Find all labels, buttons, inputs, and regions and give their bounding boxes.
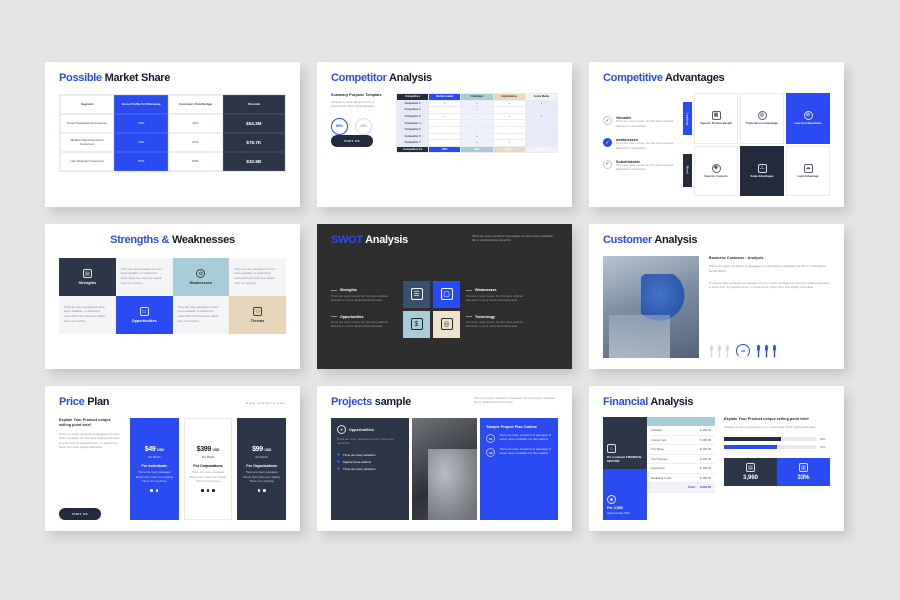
- person-icon: [772, 345, 777, 358]
- person-icon: [717, 345, 722, 358]
- price-audience: For Corporations: [193, 464, 222, 468]
- slide-possible-market-share[interactable]: Possible Market Share Segment Gross Prof…: [45, 62, 300, 207]
- card-value: Per 2,950: [607, 506, 643, 510]
- bullet-item: words which don't look even slightly: [234, 277, 275, 282]
- price-period: Per Month: [255, 456, 267, 459]
- advantage-axis-tabs: Leading Rival: [683, 93, 692, 196]
- monitor-icon: ▭: [140, 307, 149, 316]
- financial-table: Activities $ 100.00 Current ratio $ 100.…: [647, 417, 715, 520]
- gear-icon: ✿: [196, 269, 205, 278]
- price-body: There are many passages Words don't look…: [134, 471, 175, 484]
- dash-icon: [466, 316, 472, 317]
- table-cell: 32.1%: [493, 146, 525, 153]
- slide-projects-sample[interactable]: Projects sample There are many variation…: [317, 386, 572, 531]
- row-value: $ 100.00: [700, 476, 711, 480]
- table-cell: -: [493, 120, 525, 127]
- price-body: There are many passages Words don't look…: [241, 471, 282, 484]
- bullet-item: there isn't anything: [64, 320, 105, 325]
- swot-intro: There are many variations of passages of…: [472, 235, 558, 244]
- table-cell: $32.6B: [223, 152, 285, 171]
- table-row: Activities $ 100.00: [647, 426, 715, 436]
- table-row: Conclusion $ 100.00: [647, 464, 715, 474]
- slide-strengths-weaknesses[interactable]: Strengths & Weaknesses ▤ Strengths There…: [45, 224, 300, 369]
- document-icon: ▤: [83, 269, 92, 278]
- bullet-icon: [337, 453, 340, 456]
- page-title: Projects sample: [331, 397, 411, 408]
- table-cell: +: [461, 133, 493, 140]
- competitor-table: Competitors Market Leader Challenger Exp…: [396, 93, 558, 153]
- table-cell: -: [493, 126, 525, 133]
- people-icon: ☻: [607, 495, 616, 504]
- progress-track: [724, 445, 816, 449]
- pagination-dots[interactable]: [201, 489, 215, 492]
- list-item-body: There are many issues, but this have suf…: [616, 120, 675, 129]
- circle-icon: ◎: [441, 318, 453, 330]
- quadrant-label: Opportunities: [132, 319, 157, 323]
- table-cell: +: [429, 113, 461, 120]
- bullet-icon: [337, 467, 340, 470]
- panel-heading: Opportunities: [349, 428, 374, 432]
- advantage-tile[interactable]: ⊘ Low Cost Operations: [786, 93, 830, 144]
- swot-tile-weaknesses[interactable]: ▢: [433, 281, 460, 308]
- swot-tile-strengths[interactable]: ☰: [403, 281, 430, 308]
- row-label: The Turnover: [651, 457, 668, 461]
- quadrant-weaknesses[interactable]: ✿ Weaknesses: [173, 258, 230, 296]
- price-period: Per Month: [202, 456, 214, 459]
- table-cell: +: [493, 140, 525, 147]
- database-icon: ▤: [746, 463, 755, 472]
- table-row: Competitor 1 + + + +: [397, 100, 558, 107]
- slide-financial-analysis[interactable]: Financial Analysis ⌂ It's a various FINA…: [589, 386, 844, 531]
- table-cell: +: [461, 140, 493, 147]
- table-cell: -: [461, 120, 493, 127]
- projects-intro: There are many variations of passages of…: [474, 397, 558, 406]
- panel-body: There are many variations but don't look…: [337, 438, 403, 447]
- list-item-body: There are many issues, but this have suf…: [466, 295, 532, 304]
- progress-bar-row: 23%: [724, 445, 830, 449]
- bullet-icon: [337, 460, 340, 463]
- price-audience: For Organizations: [246, 464, 277, 468]
- person-icon: [756, 345, 761, 358]
- step-number: 02: [486, 448, 495, 457]
- pricing-cards: $49 USD Per Month For Individuals There …: [130, 418, 286, 520]
- table-cell: 23%: [114, 133, 168, 152]
- table-cell: +: [525, 100, 557, 107]
- row-value: $ 100.00: [700, 428, 711, 432]
- list-item[interactable]: ✓ weaknesses There are many issues, but …: [603, 138, 675, 151]
- advantage-tile[interactable]: ⛬ Scale Advantages: [740, 146, 784, 197]
- slide-competitive-advantages[interactable]: Competitive Advantages ✓ Valuable There …: [589, 62, 844, 207]
- swot-tiles: ☰ ▢ $ ◎: [403, 281, 460, 338]
- table-cell: +: [493, 100, 525, 107]
- list-item: 01 There are many variations of passages…: [486, 434, 552, 443]
- table-header-bar: [647, 417, 715, 426]
- bag-icon: ▢: [441, 288, 453, 300]
- quadrant-threats[interactable]: ⚇ Threats: [229, 296, 286, 334]
- price-amount: $399 USD: [197, 446, 220, 453]
- table-cell: -: [429, 140, 461, 147]
- advantage-checklist: ✓ Valuable There are many issues, but th…: [603, 93, 675, 196]
- target-icon: ◎: [758, 111, 767, 120]
- swot-tile-opportunities[interactable]: $: [403, 311, 430, 338]
- table-cell: [525, 133, 557, 140]
- row-value: $ 100.00: [700, 457, 711, 461]
- progress-fill: [724, 445, 777, 449]
- financial-card-sector[interactable]: ⌂ It's a various FINANCIAL SECTOR: [603, 417, 647, 469]
- step-body: There are many variations of passages of…: [499, 434, 552, 443]
- row-value: $ 100.00: [700, 447, 711, 451]
- quadrant-strengths[interactable]: ▤ Strengths: [59, 258, 116, 296]
- tab-rival[interactable]: Rival: [683, 154, 692, 187]
- dash-icon: [331, 290, 337, 291]
- table-cell: -: [493, 107, 525, 114]
- table-cell: 84%: [168, 152, 222, 171]
- progress-value: 99%: [820, 437, 830, 441]
- pricing-card[interactable]: $399 USD Per Month For Corporations Ther…: [184, 418, 233, 520]
- table-cell: 61%: [168, 133, 222, 152]
- progress-fill: [724, 437, 781, 441]
- table-cell: Small Transactional Customer: [60, 114, 114, 133]
- table-cell: $54.3M: [223, 114, 285, 133]
- table-cell: Competitor 7: [397, 140, 429, 147]
- bullet-item: there isn't anything: [121, 282, 162, 287]
- table-cell: [493, 133, 525, 140]
- advantage-tile-label: Preferred List Advantage: [746, 122, 778, 126]
- page-title: Price Plan: [59, 397, 109, 408]
- table-cell: -: [461, 126, 493, 133]
- table-header: Explanations: [493, 94, 525, 101]
- person-icon: [709, 345, 714, 358]
- page-title: Competitive Advantages: [603, 73, 830, 84]
- table-cell: Medium Sized Recurrent Customers: [60, 133, 114, 152]
- table-cell: Competitor 4: [397, 120, 429, 127]
- meeting-photo: [603, 256, 699, 358]
- page-title: SWOT Analysis: [331, 235, 408, 246]
- section-heading: Explain Your Product unique selling poin…: [724, 417, 830, 422]
- table-row: Competitor 5 - - - -: [397, 126, 558, 133]
- table-row: The Share $ 100.00: [647, 445, 715, 455]
- table-row: The Turnover $ 100.00: [647, 455, 715, 465]
- table-cell: Competitor 3: [397, 113, 429, 120]
- list-item: Opportunities There are many issues, but…: [331, 315, 397, 330]
- list-item: There are many variations: [337, 467, 403, 471]
- table-cell: +: [429, 100, 461, 107]
- table-cell: Competitor 1: [397, 100, 429, 107]
- visit-us-button[interactable]: VISIT US: [331, 135, 373, 147]
- swot-left-column: Strengths There are many issues, but thi…: [331, 288, 397, 330]
- check-icon: ✓: [603, 116, 612, 125]
- table-row: Competitor 2 - + - -: [397, 107, 558, 114]
- opportunities-panel[interactable]: ◕ Opportunities There are many variation…: [331, 418, 409, 520]
- list-item: Weaknesses There are many issues, but th…: [466, 288, 532, 303]
- table-cell: Competitor 6: [397, 133, 429, 140]
- total-value: $ 600.00: [700, 485, 711, 489]
- list-item: Majority those suffered: [337, 460, 403, 464]
- advantage-tile-label: Low Cost Operations: [794, 122, 821, 126]
- table-cell: -: [429, 126, 461, 133]
- table-cell: -: [429, 120, 461, 127]
- progress-track: [724, 437, 816, 441]
- table-cell: $75.7K: [223, 133, 285, 152]
- table-row: Marketing Costs $ 100.00: [647, 474, 715, 484]
- slide-grid: Possible Market Share Segment Gross Prof…: [0, 0, 900, 600]
- table-header: Gross Profits % Of Revenue: [114, 95, 168, 114]
- pricing-card[interactable]: $99 USD Per Month For Organizations Ther…: [237, 418, 286, 520]
- globe-icon: ✺: [712, 164, 721, 173]
- table-cell: +: [461, 107, 493, 114]
- section-heading: Business Customer : Analysis: [709, 256, 830, 260]
- quadrant-text: There are many passages of Lorem Ipsum a…: [59, 296, 116, 334]
- table-cell: +: [461, 100, 493, 107]
- pagination-dots[interactable]: [258, 489, 266, 492]
- list-item-label: Technology: [475, 315, 495, 319]
- table-cell: 42%: [168, 114, 222, 133]
- quadrant-label: Threats: [251, 319, 265, 323]
- table-header: Potential: [223, 95, 285, 114]
- table-cell: 50.1%: [525, 146, 557, 153]
- row-label: The Share: [651, 447, 664, 451]
- table-cell: Competitors 10: [397, 146, 429, 153]
- kpi-value: 33%: [797, 475, 809, 481]
- list-item-label: Strengths: [340, 288, 357, 292]
- chart-icon: ▥: [799, 463, 808, 472]
- slide-price-plan[interactable]: Price Plan www.example.com Explain Your …: [45, 386, 300, 531]
- progress-bar-row: 99%: [724, 437, 830, 441]
- kpi-card[interactable]: ▤ 3,960: [724, 458, 777, 486]
- slide-customer-analysis[interactable]: Customer Analysis Business Customer : An…: [589, 224, 844, 369]
- swot-tile-technology[interactable]: ◎: [433, 311, 460, 338]
- advantage-tile-label: Superior Contents: [704, 175, 727, 179]
- table-cell: Competitor 5: [397, 126, 429, 133]
- table-cell: -: [429, 107, 461, 114]
- ring-metric-1: 89%: [331, 118, 348, 135]
- bullet-item: there isn't anything: [234, 282, 275, 287]
- advantage-tile[interactable]: ◎ Preferred List Advantage: [740, 93, 784, 144]
- card-label: Approximately 2023: [607, 512, 643, 515]
- table-cell: 90%: [429, 146, 461, 153]
- step-number: 01: [486, 434, 495, 443]
- project-photo: [412, 418, 478, 520]
- list-item-body: There are many issues, but this have suf…: [616, 164, 675, 173]
- table-cell: 68%: [461, 146, 493, 153]
- body-text: Variation of some injected humor, or ran…: [724, 426, 830, 430]
- advantage-tile-label: Legal Advantage: [797, 175, 818, 179]
- price-audience: For Individuals: [142, 464, 168, 468]
- list-item: Strengths There are many issues, but thi…: [331, 288, 397, 303]
- price-amount: $49 USD: [145, 446, 164, 453]
- list-item-body: There are many issues, but this have suf…: [331, 321, 397, 330]
- progress-value: 23%: [820, 445, 830, 449]
- quadrant-text: There are many passages of Lorem Ipsum a…: [173, 296, 230, 334]
- quadrant-label: Strengths: [79, 281, 97, 285]
- market-share-table: Segment Gross Profits % Of Revenue Custo…: [59, 94, 286, 172]
- table-cell: -: [525, 140, 557, 147]
- quadrant-opportunities[interactable]: ▭ Opportunities: [116, 296, 173, 334]
- table-total-row: Total : $ 600.00: [647, 483, 715, 493]
- price-amount: $99 USD: [252, 446, 271, 453]
- table-cell: -: [525, 107, 557, 114]
- financial-side-cards: ⌂ It's a various FINANCIAL SECTOR ☻ Per …: [603, 417, 647, 520]
- cloud-icon: ☁: [804, 164, 813, 173]
- swot-right-column: Weaknesses There are many issues, but th…: [466, 288, 532, 330]
- metric-rings: 89% 23%: [331, 118, 387, 135]
- kpi-value: 3,960: [743, 475, 758, 481]
- table-header: Market Leader: [429, 94, 461, 101]
- tab-leading[interactable]: Leading: [683, 102, 692, 135]
- gauge-value: 3/8: [736, 344, 750, 358]
- summary-heading: Summary Purpose Template: [331, 93, 387, 98]
- table-cell: -: [525, 126, 557, 133]
- swot-quadrant-grid: ▤ Strengths There are many passages of L…: [59, 258, 286, 369]
- list-item: There are many variations: [337, 453, 403, 457]
- chat-icon: ◕: [337, 425, 346, 434]
- table-cell: 87%: [114, 152, 168, 171]
- price-body: There are many passages Words don't look…: [188, 471, 229, 484]
- body-text-1: There are many variations of passages of…: [709, 264, 830, 275]
- row-label: Current ratio: [651, 438, 667, 442]
- table-header: Social Media: [525, 94, 557, 101]
- pagination-dots[interactable]: [150, 489, 158, 492]
- table-row: Current ratio $ 100.00: [647, 436, 715, 446]
- list-item-label: Opportunities: [340, 315, 364, 319]
- table-row: Competitor 3 + - + +: [397, 113, 558, 120]
- visit-us-button[interactable]: VISIT US: [59, 508, 101, 520]
- advantage-tile-label: Superior Product Benefit: [700, 122, 732, 126]
- quadrant-text: There are many passages of Lorem Ipsum a…: [229, 258, 286, 296]
- ring-metric-2: 23%: [355, 118, 372, 135]
- row-label: Activities: [651, 428, 662, 432]
- summary-body: Variation in some agreed humor, or rando…: [331, 101, 387, 110]
- row-value: $ 100.00: [700, 466, 711, 470]
- list-item[interactable]: ✓ Valuable There are many issues, but th…: [603, 116, 675, 129]
- users-icon: ⚇: [253, 307, 262, 316]
- list-item: Technology There are many issues, but th…: [466, 315, 532, 330]
- table-cell: [429, 133, 461, 140]
- card-label: It's a various FINANCIAL SECTOR: [607, 455, 643, 463]
- page-title: Strengths & Weaknesses: [59, 235, 286, 246]
- step-body: There are many variations of passages of…: [499, 448, 552, 457]
- table-cell: -: [461, 113, 493, 120]
- panel-heading: Sample Project Plan Outline: [486, 425, 552, 429]
- bullet-item: there isn't anything: [178, 320, 219, 325]
- pricing-card[interactable]: $49 USD Per Month For Individuals There …: [130, 418, 179, 520]
- table-cell: +: [525, 113, 557, 120]
- advantage-tile-label: Scale Advantages: [751, 175, 774, 179]
- dash-icon: [466, 290, 472, 291]
- quadrant-label: Weaknesses: [190, 281, 213, 285]
- table-row: Competitor 4 - - - -: [397, 120, 558, 127]
- table-cell: Last Strategic Customers: [60, 152, 114, 171]
- table-header: Segment: [60, 95, 114, 114]
- row-value: $ 100.00: [700, 438, 711, 442]
- body-text: There are many variations of passages of…: [59, 433, 122, 451]
- row-label: Conclusion: [651, 466, 665, 470]
- dollar-icon: $: [411, 318, 423, 330]
- slide-swot-analysis[interactable]: SWOT Analysis There are many variations …: [317, 224, 572, 369]
- table-cell: Competitor 2: [397, 107, 429, 114]
- list-item-body: There are many issues, but this have suf…: [616, 142, 675, 151]
- list-icon: ☰: [411, 288, 423, 300]
- bullet-item: words which don't look even slightly: [121, 277, 162, 282]
- advantage-tile[interactable]: ▣ Superior Product Benefit: [694, 93, 738, 144]
- frame-icon: ▣: [712, 111, 721, 120]
- table-header: Challenger: [461, 94, 493, 101]
- advantage-tile[interactable]: ☁ Legal Advantage: [786, 146, 830, 197]
- page-title: Customer Analysis: [603, 235, 830, 246]
- person-icon: [764, 345, 769, 358]
- page-title: Competitor Analysis: [331, 73, 558, 84]
- body-text-2: There are many variations of passages of…: [709, 282, 830, 291]
- list-item[interactable]: ✓ Substitutable There are many issues, b…: [603, 160, 675, 173]
- page-title: Possible Market Share: [59, 73, 286, 84]
- table-cell: +: [493, 113, 525, 120]
- list-item-label: Weaknesses: [475, 288, 497, 292]
- people-pictogram-chart: 3/8: [709, 344, 830, 358]
- person-icon: [725, 345, 730, 358]
- list-item-body: There are many issues, but this have suf…: [331, 295, 397, 304]
- table-row: Competitor 6 +: [397, 133, 558, 140]
- quadrant-text: There are many passages of Lorem Ipsum a…: [116, 258, 173, 296]
- kpi-card[interactable]: ▥ 33%: [777, 458, 830, 486]
- website-url: www.example.com: [246, 401, 286, 405]
- slide-competitor-analysis[interactable]: Competitor Analysis Summary Purpose Temp…: [317, 62, 572, 207]
- project-outline-panel[interactable]: Sample Project Plan Outline 01 There are…: [480, 418, 558, 520]
- page-title: Financial Analysis: [603, 397, 830, 408]
- financial-card-per[interactable]: ☻ Per 2,950 Approximately 2023: [603, 469, 647, 521]
- advantage-tile[interactable]: ✺ Superior Contents: [694, 146, 738, 197]
- table-total-row: Competitors 10 90% 68% 32.1% 50.1%: [397, 146, 558, 153]
- network-icon: ⛬: [758, 164, 767, 173]
- table-row: Competitor 7 - + + -: [397, 140, 558, 147]
- check-icon: ✓: [603, 160, 612, 169]
- dash-icon: [331, 316, 337, 317]
- bullet-item: words which don't look even slightly: [178, 315, 219, 320]
- table-cell: 35%: [114, 114, 168, 133]
- list-item: 02 There are many variations of passages…: [486, 448, 552, 457]
- table-header: Competitors: [397, 94, 429, 101]
- kpi-cards: ▤ 3,960 ▥ 33%: [724, 458, 830, 486]
- table-header: Customers Total Budget: [168, 95, 222, 114]
- check-icon: ✓: [603, 138, 612, 147]
- shield-icon: ⊘: [804, 111, 813, 120]
- factory-icon: ⌂: [607, 444, 616, 453]
- total-label: Total :: [688, 485, 696, 489]
- price-period: Per Month: [148, 456, 160, 459]
- advantage-grid: ▣ Superior Product Benefit ◎ Preferred L…: [694, 93, 830, 196]
- table-cell: -: [525, 120, 557, 127]
- list-item-body: There are many issues, but this have suf…: [466, 321, 532, 330]
- row-label: Marketing Costs: [651, 476, 671, 480]
- section-heading: Explain Your Product unique selling poin…: [59, 418, 122, 428]
- competitor-summary: Summary Purpose Template Variation in so…: [331, 93, 387, 196]
- bullet-item: words which don't look even slightly: [64, 315, 105, 320]
